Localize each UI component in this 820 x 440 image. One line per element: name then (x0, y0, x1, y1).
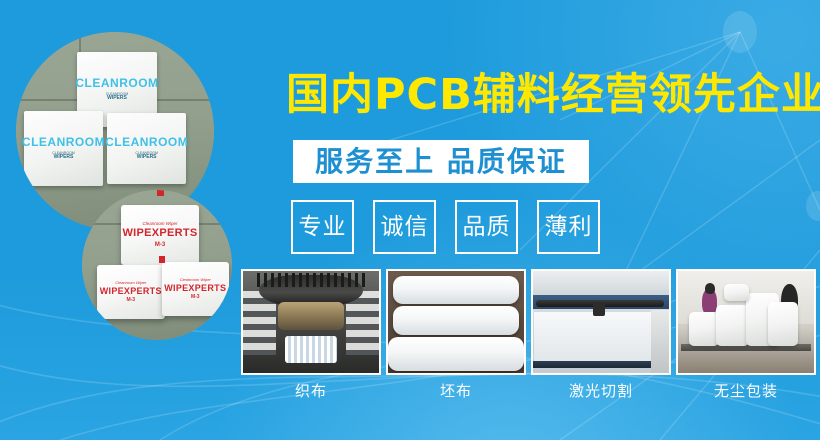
wipexperts-circle-photo: Cleanroom Wiper WIPEXPERTS M-3 Cleanroom… (82, 190, 232, 340)
value-box-label: 诚信 (381, 216, 429, 239)
laser-cutting-photo (531, 269, 671, 375)
value-box-chengxin[interactable]: 诚信 (373, 200, 436, 254)
fabric-roll (393, 276, 518, 304)
process-thumbnail-greige[interactable]: 坯布 (386, 269, 526, 399)
package-top-text: Cleanroom Wiper (143, 222, 178, 227)
fabric-roll (393, 306, 518, 336)
knitting-machine-photo (241, 269, 381, 375)
wipexperts-photo-scene: Cleanroom Wiper WIPEXPERTS M-3 Cleanroom… (82, 190, 232, 340)
package-brand-text: CLEANROOM (22, 136, 105, 148)
value-box-row: 专业 诚信 品质 薄利 (291, 200, 600, 254)
knitted-fabric (285, 336, 337, 363)
needle-array (257, 273, 366, 287)
wipe-bundle (689, 312, 719, 347)
package-sub2-text: WIPERS (54, 155, 74, 161)
package-badge-text: M-3 (155, 242, 165, 248)
process-thumbnail-laser[interactable]: 激光切割 (531, 269, 671, 399)
thumbnail-caption: 坯布 (386, 384, 526, 399)
package-badge-text: M-3 (126, 298, 135, 303)
process-thumbnail-packing[interactable]: 无尘包装 (676, 269, 816, 399)
cutting-bed (534, 312, 654, 365)
wipe-bundle (716, 305, 749, 347)
back-wall (533, 271, 669, 295)
value-box-baoli[interactable]: 薄利 (537, 200, 600, 254)
package-brand-text: WIPEXPERTS (122, 228, 197, 239)
package-top-text: Cleanroom Wiper (180, 278, 211, 282)
package-top-text: Cleanroom Wiper (115, 281, 146, 285)
process-thumbnail-weaving[interactable]: 织布 (241, 269, 381, 399)
promo-banner: CLEANROOM CLEANROOM WIPERS CLEANROOM CLE… (0, 0, 820, 440)
wipe-bundle (768, 302, 798, 347)
value-box-zhuanye[interactable]: 专业 (291, 200, 354, 254)
value-box-label: 专业 (299, 216, 347, 239)
cleanroom-packing-photo (676, 269, 816, 375)
process-thumbnail-row: 织布 坯布 激光切割 (241, 269, 816, 399)
package-brand-text: WIPEXPERTS (164, 284, 226, 293)
laser-head (593, 302, 605, 316)
package-brand-text: CLEANROOM (105, 136, 188, 148)
subhead-text: 服务至上 品质保证 (315, 148, 567, 176)
package-brand-text: WIPEXPERTS (100, 287, 162, 296)
machine-drum (278, 302, 343, 331)
value-box-label: 品质 (463, 216, 511, 239)
value-box-pinzhi[interactable]: 品质 (455, 200, 518, 254)
red-seal-tab (159, 256, 165, 263)
machine-rail (533, 361, 669, 368)
headline-title: 国内PCB辅料经营领先企业 (286, 74, 820, 117)
cleanroom-package: CLEANROOM CLEANROOM WIPERS (24, 111, 103, 186)
worker-head (705, 283, 716, 294)
thumbnail-caption: 无尘包装 (676, 384, 816, 399)
thumbnail-caption: 织布 (241, 384, 381, 399)
package-sub2-text: WIPERS (107, 96, 127, 102)
red-seal-tab (157, 190, 164, 196)
value-box-label: 薄利 (545, 216, 593, 239)
cleanroom-package: CLEANROOM CLEANROOM WIPERS (107, 113, 186, 184)
package-brand-text: CLEANROOM (75, 77, 158, 89)
wipexperts-package: Cleanroom Wiper WIPEXPERTS M-3 (97, 265, 165, 319)
fabric-rolls-photo (386, 269, 526, 375)
thumbnail-caption: 激光切割 (531, 384, 671, 399)
wipe-bundle (724, 284, 748, 300)
subhead-box: 服务至上 品质保证 (293, 140, 589, 183)
fabric-roll (388, 337, 524, 371)
wipexperts-package: Cleanroom Wiper WIPEXPERTS M-3 (162, 262, 230, 316)
machine-side-panel (651, 310, 669, 373)
package-sub2-text: WIPERS (137, 155, 157, 161)
package-badge-text: M-3 (191, 295, 200, 300)
